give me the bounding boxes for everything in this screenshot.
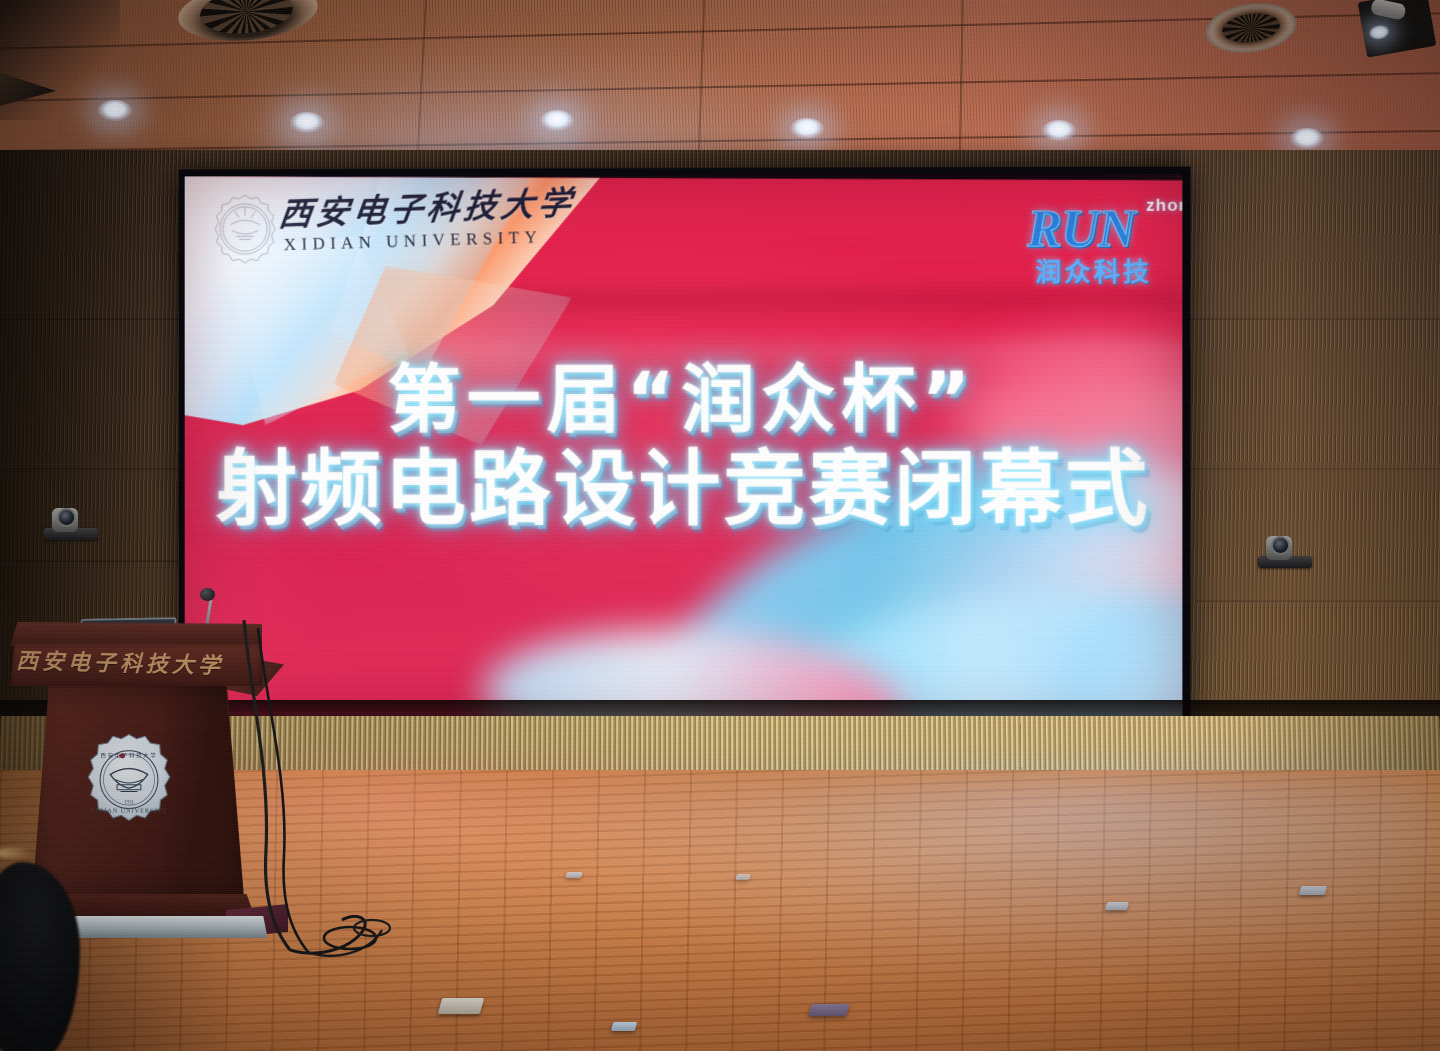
ceiling-corner-shadow: [0, 0, 120, 120]
floor-outlet-box: [611, 1022, 638, 1031]
recessed-downlight: [790, 118, 824, 139]
slide-title: 第一届“润众杯” 射频电路设计竞赛闭幕式: [185, 361, 1183, 537]
svg-text:XIDIAN UNIVERSITY: XIDIAN UNIVERSITY: [90, 808, 167, 815]
camera-lens: [57, 508, 76, 527]
recessed-downlight: [290, 112, 324, 133]
floor-outlet-box: [565, 872, 583, 878]
sponsor-superscript: zhong: [1146, 196, 1182, 216]
auditorium-stage-photo: 西安电子科技大学 XIDIAN UNIVERSITY RUN zhong 润众科…: [0, 0, 1440, 1051]
wall-camera-left: [42, 510, 98, 540]
cable-run: [230, 620, 450, 960]
sponsor-name-chinese: 润众科技: [1035, 252, 1152, 289]
svg-text:1931: 1931: [124, 799, 135, 805]
recessed-downlight: [540, 110, 574, 131]
floor-outlet-box: [438, 998, 485, 1014]
floor-outlet-box: [808, 1004, 849, 1016]
wall-camera-right: [1256, 538, 1312, 568]
floor-light-blue: [540, 770, 1440, 980]
university-seal-icon: [208, 192, 281, 266]
university-name-chinese: 西安电子科技大学: [277, 187, 591, 233]
camera-lens: [1271, 536, 1290, 555]
xidian-university-logo: 西安电子科技大学 XIDIAN UNIVERSITY: [280, 193, 588, 251]
recessed-downlight: [1042, 120, 1076, 141]
microphone-head: [200, 588, 215, 601]
recessed-downlight: [1290, 128, 1324, 149]
wall-highlight-right: [1180, 150, 1440, 790]
floor-outlet-box: [1105, 902, 1129, 910]
title-line-2: 射频电路设计竞赛闭幕式: [185, 445, 1183, 536]
recessed-downlight: [98, 100, 132, 121]
floor-outlet-box: [1299, 886, 1328, 895]
runzhong-technology-logo: RUN zhong 润众科技: [1027, 194, 1182, 281]
svg-text:西安电子科技大学: 西安电子科技大学: [100, 752, 157, 760]
sponsor-latin-mark: RUN: [1027, 204, 1135, 256]
floor-outlet-box: [735, 874, 751, 880]
university-seal-icon: 1931 XIDIAN UNIVERSITY 西安电子科技大学: [78, 732, 180, 834]
title-line-1: 第一届“润众杯”: [185, 361, 1183, 440]
lectern-engraved-text: 西安电子科技大学: [16, 643, 247, 681]
